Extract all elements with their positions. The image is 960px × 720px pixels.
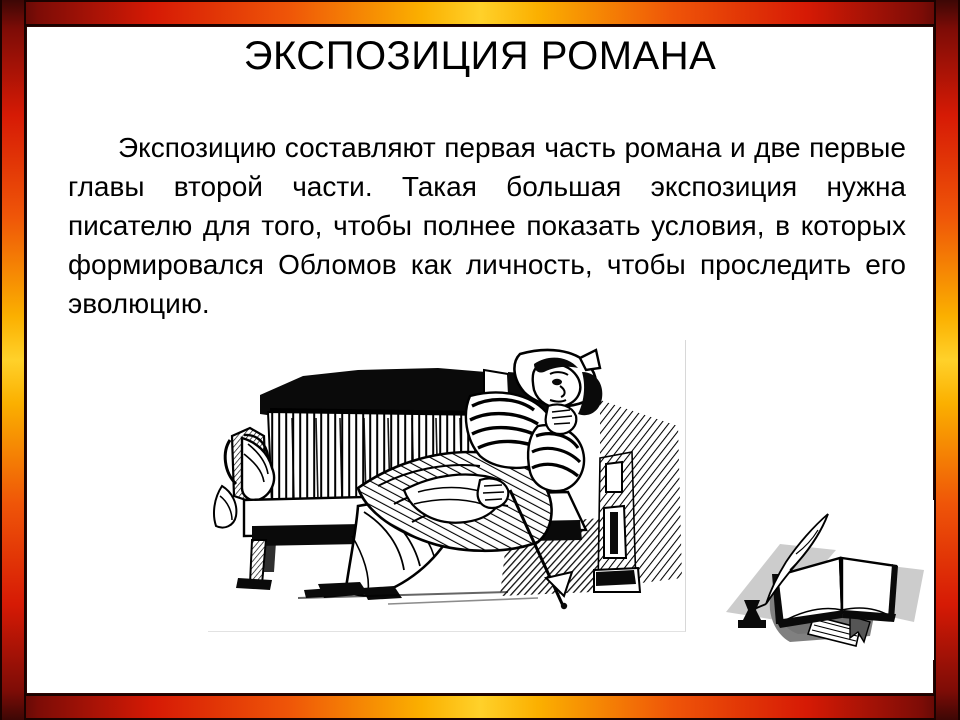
book-quill-clipart bbox=[718, 500, 934, 660]
oblomov-sofa-illustration bbox=[208, 340, 686, 632]
border-top-flame bbox=[0, 0, 960, 26]
border-bottom-flame bbox=[0, 694, 960, 720]
oblomov-sofa-engraving-svg bbox=[208, 340, 686, 632]
page-title: ЭКСПОЗИЦИЯ РОМАНА bbox=[30, 34, 930, 78]
border-right-flame bbox=[934, 0, 960, 720]
body-paragraph: Экспозицию составляют первая часть роман… bbox=[68, 128, 906, 323]
open-book-with-quill-svg bbox=[718, 500, 934, 660]
slide: ЭКСПОЗИЦИЯ РОМАНА Экспозицию составляют … bbox=[0, 0, 960, 720]
border-left-flame bbox=[0, 0, 26, 720]
